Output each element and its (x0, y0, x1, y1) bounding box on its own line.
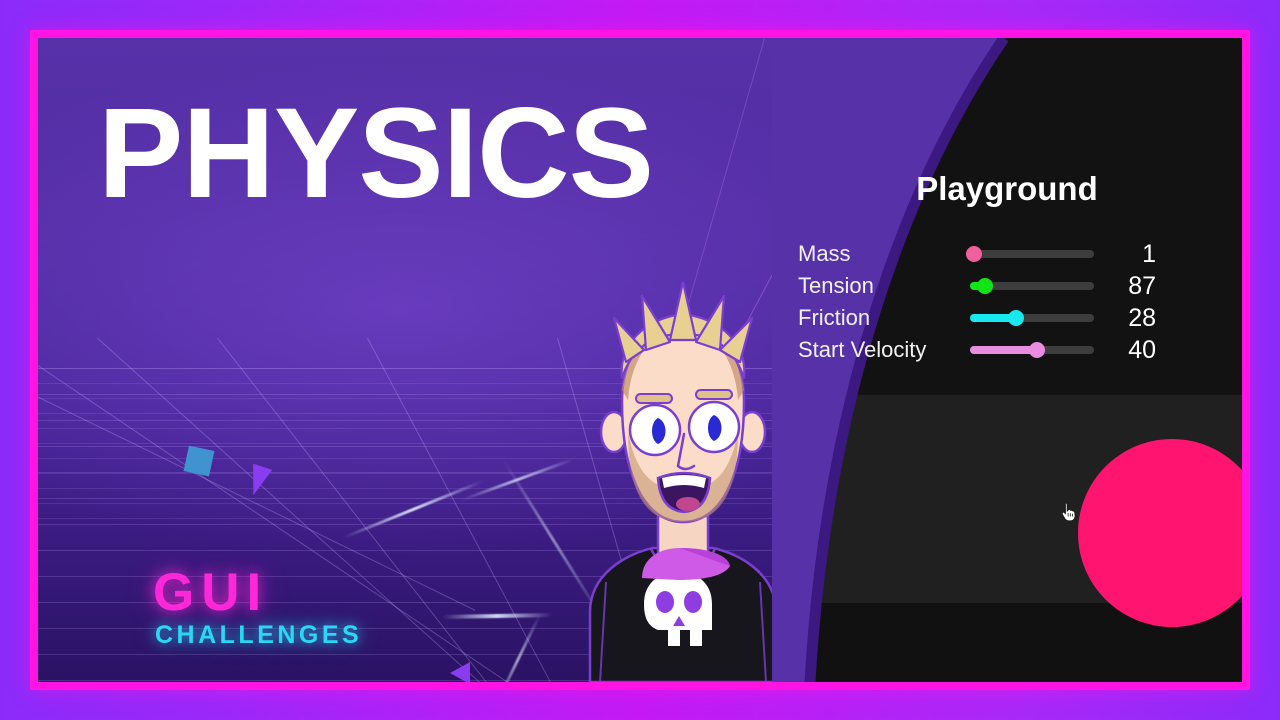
slider-row[interactable]: Friction28 (798, 302, 1228, 334)
floating-triangle-shape (450, 662, 470, 682)
logo-primary-text: GUI (153, 566, 362, 619)
slider-label: Tension (798, 273, 970, 299)
slider-value: 28 (1094, 304, 1156, 333)
slider-thumb[interactable] (1029, 342, 1045, 358)
avatar-tongue (676, 497, 700, 511)
avatar-eyebrow-right (696, 390, 732, 399)
slider-label: Friction (798, 305, 970, 331)
slider-label: Mass (798, 241, 970, 267)
avatar-eyebrow-left (636, 394, 672, 403)
video-frame: PHYSICS GUI CHALLENGES (0, 0, 1280, 720)
slider-row[interactable]: Start Velocity40 (798, 334, 1228, 366)
slider-fill (970, 346, 1034, 354)
floating-square-shape (184, 446, 215, 477)
slider-list: Mass1Tension87Friction28Start Velocity40 (798, 238, 1228, 366)
slide-content: PHYSICS GUI CHALLENGES (38, 38, 1242, 682)
pointer-hand-cursor (1060, 501, 1078, 523)
slider-label: Start Velocity (798, 337, 970, 363)
slider-thumb[interactable] (966, 246, 982, 262)
playground-title-text: Playground (916, 170, 1098, 207)
logo-secondary-text: CHALLENGES (155, 623, 362, 648)
slider-track[interactable] (970, 346, 1094, 354)
slider-thumb[interactable] (1008, 310, 1024, 326)
slider-track[interactable] (970, 250, 1094, 258)
page-title: PHYSICS (98, 90, 653, 218)
slider-row[interactable]: Tension87 (798, 270, 1228, 302)
slider-row[interactable]: Mass1 (798, 238, 1228, 270)
playground-title: Playground (772, 170, 1242, 208)
slider-value: 40 (1094, 336, 1156, 365)
neon-border: PHYSICS GUI CHALLENGES (30, 30, 1250, 690)
slider-value: 87 (1094, 272, 1156, 301)
slider-thumb[interactable] (977, 278, 993, 294)
slider-track[interactable] (970, 282, 1094, 290)
page-title-text: PHYSICS (98, 82, 653, 225)
slider-value: 1 (1094, 240, 1156, 269)
gui-challenges-logo: GUI CHALLENGES (153, 566, 362, 648)
slider-track[interactable] (970, 314, 1094, 322)
